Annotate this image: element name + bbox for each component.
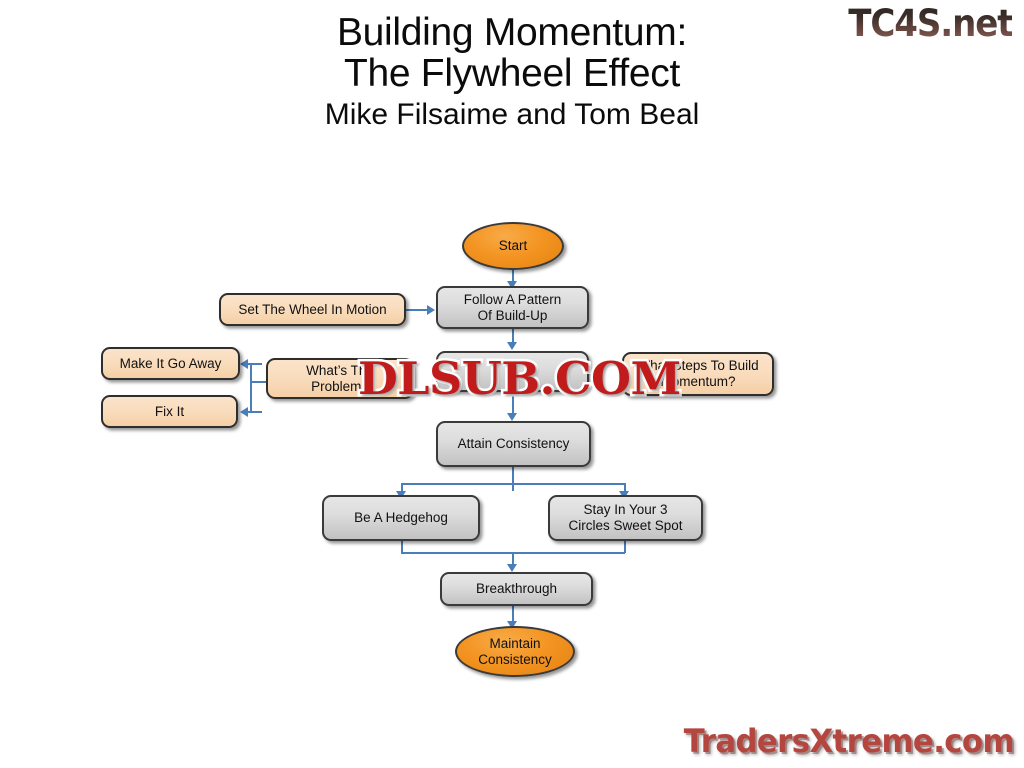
node-maintain-label-line-1: Maintain (489, 636, 540, 652)
connector-problem-stem (250, 381, 266, 383)
slide-canvas: Building Momentum: The Flywheel Effect M… (0, 0, 1024, 768)
node-stay-in-your-3-circles[interactable]: Stay In Your 3 Circles Sweet Spot (548, 495, 703, 541)
arrowhead-merge-to-breakthrough (507, 564, 517, 572)
dlsub-watermark: DLSUB.COM (358, 352, 681, 405)
node-follow-label-line-1: Follow A Pattern (464, 292, 562, 308)
node-circles-label-line-2: Circles Sweet Spot (568, 518, 682, 534)
node-attain-label: Attain Consistency (458, 436, 570, 452)
node-make-it-go-away[interactable]: Make It Go Away (101, 347, 240, 380)
node-makeaway-label: Make It Go Away (120, 356, 222, 372)
arrowhead-setwheel-to-follow (427, 305, 435, 315)
node-breakthrough-label: Breakthrough (476, 581, 557, 597)
node-follow-a-pattern[interactable]: Follow A Pattern Of Build-Up (436, 286, 589, 329)
arrowhead-branch-to-fixit (240, 407, 248, 417)
node-start[interactable]: Start (462, 222, 564, 270)
node-circles-label-line-1: Stay In Your 3 (583, 502, 667, 518)
node-be-a-hedgehog[interactable]: Be A Hedgehog (322, 495, 480, 541)
node-hedgehog-label: Be A Hedgehog (354, 510, 448, 526)
connector-branch-to-fixit (248, 411, 262, 413)
node-fixit-label: Fix It (155, 404, 184, 420)
node-set-the-wheel-in-motion[interactable]: Set The Wheel In Motion (219, 293, 406, 326)
page-title-line-2: The Flywheel Effect (0, 53, 1024, 94)
tradersxtreme-logo: TradersXtreme.com (684, 722, 1014, 760)
connector-setwheel-to-follow (406, 309, 429, 311)
node-fix-it[interactable]: Fix It (101, 395, 238, 428)
arrowhead-mid-to-attain (507, 413, 517, 421)
node-start-label: Start (499, 238, 528, 254)
connector-split-bar (401, 483, 625, 485)
node-maintain-consistency[interactable]: Maintain Consistency (455, 626, 575, 677)
connector-problem-bar (250, 363, 252, 413)
arrowhead-branch-to-makeaway (240, 359, 248, 369)
page-subtitle-authors: Mike Filsaime and Tom Beal (0, 99, 1024, 131)
tc4s-logo: TC4S.net (848, 2, 1012, 45)
node-attain-consistency[interactable]: Attain Consistency (436, 421, 591, 467)
connector-attain-stem (512, 467, 514, 491)
connector-branch-to-makeaway (248, 363, 262, 365)
node-setwheel-label: Set The Wheel In Motion (238, 302, 386, 318)
node-breakthrough[interactable]: Breakthrough (440, 572, 593, 606)
arrowhead-follow-to-mid (507, 342, 517, 350)
node-maintain-label-line-2: Consistency (478, 652, 552, 668)
node-follow-label-line-2: Of Build-Up (478, 308, 548, 324)
